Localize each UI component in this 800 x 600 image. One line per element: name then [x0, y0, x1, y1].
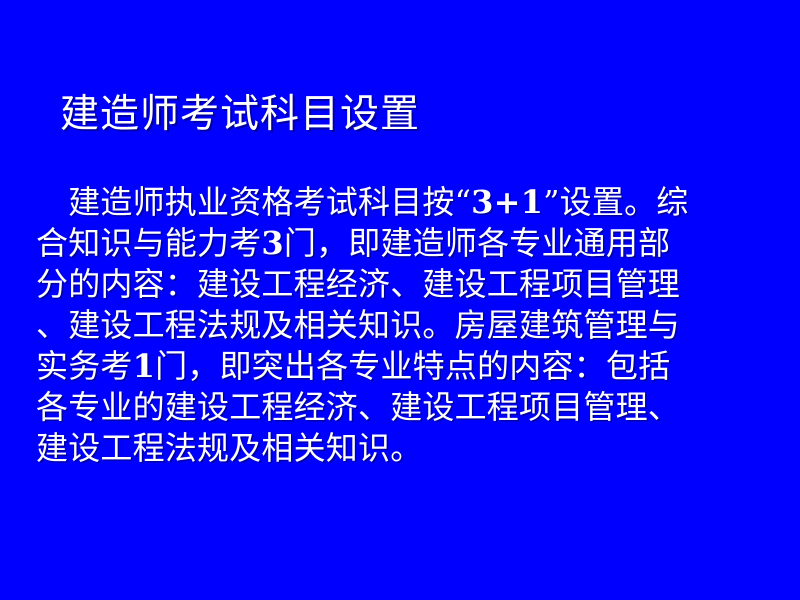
- page-title: 建造师考试科目设置: [60, 90, 760, 140]
- numeral: 3+1: [471, 183, 543, 221]
- body-line: 实务考1门，即突出各专业特点的内容：包括: [36, 346, 776, 387]
- body-line: 分的内容：建设工程经济、建设工程项目管理: [36, 264, 776, 305]
- body-line: 各专业的建设工程经济、建设工程项目管理、: [36, 387, 776, 428]
- presentation-slide: 建造师考试科目设置 建造师执业资格考试科目按“3+1”设置。综 合知识与能力考3…: [0, 0, 800, 600]
- body-line: 合知识与能力考3门，即建造师各专业通用部: [36, 223, 776, 264]
- numeral: 3: [261, 224, 283, 262]
- body-line: 建造师执业资格考试科目按“3+1”设置。综: [36, 182, 776, 223]
- body-line: 、建设工程法规及相关知识。房屋建筑管理与: [36, 305, 776, 346]
- body-line: 建设工程法规及相关知识。: [36, 428, 776, 469]
- numeral: 1: [133, 347, 155, 385]
- slide-body-text: 建造师执业资格考试科目按“3+1”设置。综 合知识与能力考3门，即建造师各专业通…: [36, 182, 776, 469]
